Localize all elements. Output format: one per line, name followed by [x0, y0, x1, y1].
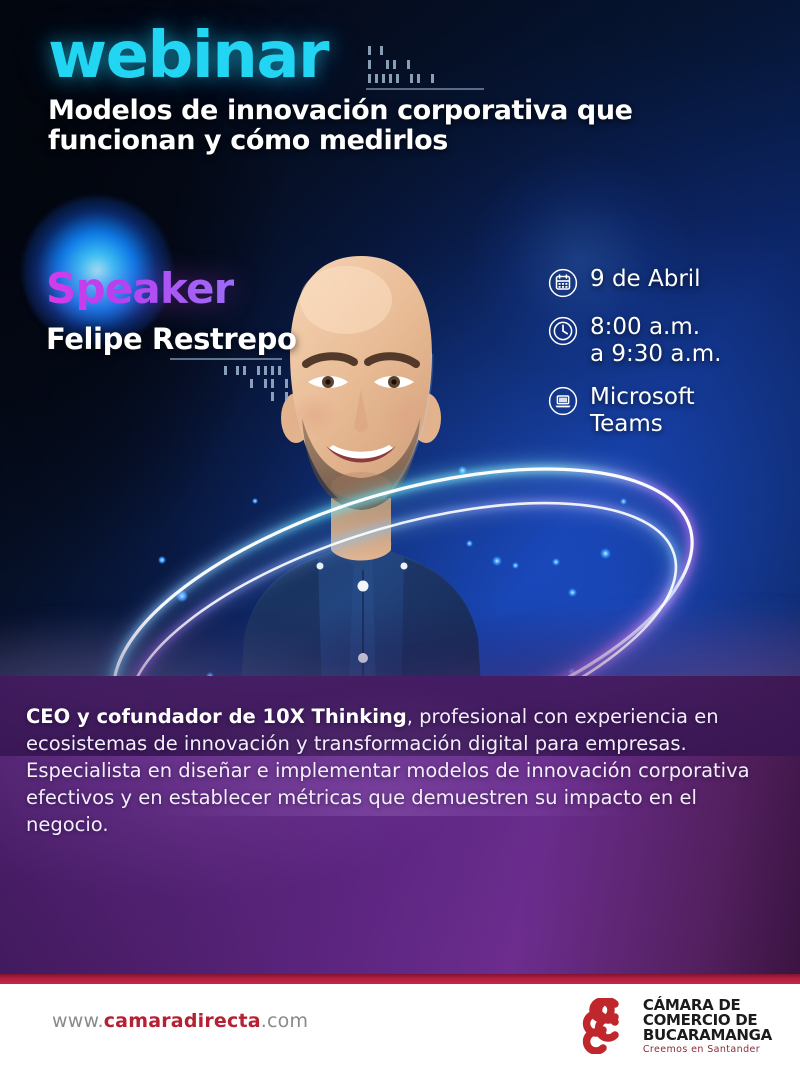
decorative-dashes-speaker: [170, 358, 296, 404]
organization-logo: CÁMARA DE COMERCIO DE BUCARAMANGA Creemo…: [581, 998, 772, 1055]
page-title: webinar: [48, 24, 328, 88]
decorative-dashes-title: [366, 44, 486, 92]
bokeh-dot: [552, 558, 560, 566]
url-prefix: www.: [52, 1010, 104, 1032]
bio-panel: CEO y cofundador de 10X Thinking, profes…: [0, 676, 800, 976]
event-details: 9 de Abril 8:00 a.m. a 9:30 a.m.: [548, 266, 788, 455]
logo-tagline: Creemos en Santander: [643, 1045, 772, 1055]
detail-row-date: 9 de Abril: [548, 266, 788, 298]
bio-lead: CEO y cofundador de 10X Thinking: [26, 705, 407, 728]
laptop-icon: [548, 386, 578, 416]
url-brand: camaradirecta: [104, 1010, 261, 1032]
footer-url[interactable]: www.camaradirecta.com: [52, 1010, 308, 1032]
detail-row-time: 8:00 a.m. a 9:30 a.m.: [548, 314, 788, 368]
bokeh-dot: [600, 548, 611, 559]
detail-text-time: 8:00 a.m. a 9:30 a.m.: [590, 314, 722, 368]
speaker-name: Felipe Restrepo: [46, 322, 296, 356]
bio-text: CEO y cofundador de 10X Thinking, profes…: [26, 704, 770, 839]
detail-text-date: 9 de Abril: [590, 266, 701, 293]
logo-wordmark: CÁMARA DE COMERCIO DE BUCARAMANGA Creemo…: [643, 998, 772, 1055]
bokeh-dot: [158, 556, 166, 564]
clock-icon: [548, 316, 578, 346]
camara-comercio-mark-icon: [581, 998, 633, 1054]
detail-row-platform: Microsoft Teams: [548, 384, 788, 438]
logo-line-3: BUCARAMANGA: [643, 1028, 772, 1043]
webinar-poster: webinar Modelos de innovación cor: [0, 0, 800, 1066]
calendar-icon: [548, 268, 578, 298]
url-suffix: .com: [261, 1010, 308, 1032]
speaker-label: Speaker: [46, 268, 234, 310]
detail-text-platform: Microsoft Teams: [590, 384, 695, 438]
bokeh-dot: [620, 498, 627, 505]
red-divider-bar: [0, 974, 800, 984]
page-subtitle: Modelos de innovación corporativa que fu…: [48, 96, 748, 156]
footer: www.camaradirecta.com CÁMARA DE COMERCIO…: [0, 984, 800, 1066]
